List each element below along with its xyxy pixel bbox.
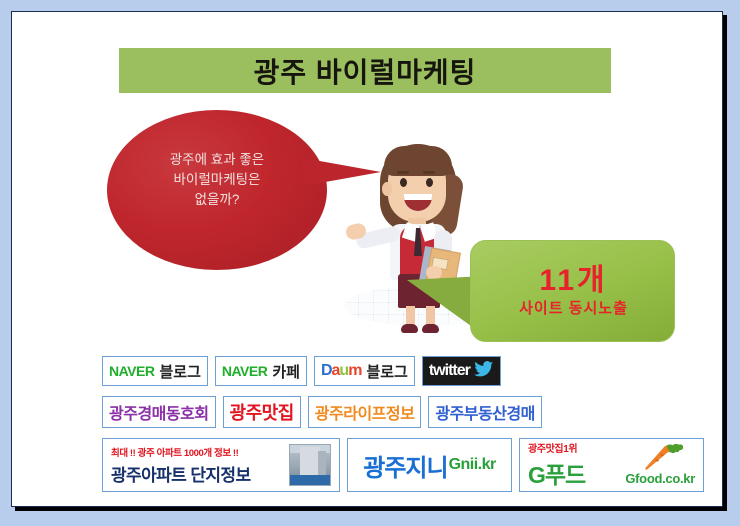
genie-label: 광주지니 — [363, 448, 447, 483]
gfood-url: Gfood.co.kr — [625, 471, 695, 486]
site-label: 광주라이프정보 — [315, 400, 415, 424]
gfood-text-block: 광주맛집1위 G푸드 — [528, 440, 585, 490]
site-label: 광주부동산경매 — [435, 400, 535, 424]
logo-card-gfood[interactable]: 광주맛집1위 G푸드 Gfood.co.kr — [519, 438, 704, 492]
logo-row-1: NAVER 블로그 NAVER 카페 Daum 블로그 twitter — [102, 356, 501, 386]
naver-cafe-label: 카페 — [272, 361, 300, 382]
logo-card-gwangju-genie[interactable]: 광주지니 Gnii.kr — [347, 438, 512, 492]
gfood-label: G푸드 — [528, 456, 585, 490]
title-banner: 광주 바이럴마케팅 — [119, 48, 611, 93]
logo-row-2: 광주경매동호회 광주맛집 광주라이프정보 광주부동산경매 — [102, 396, 542, 428]
photo-base — [290, 475, 331, 485]
logo-card-gwangju-auction-club[interactable]: 광주경매동호회 — [102, 396, 216, 428]
site-label: 광주경매동호회 — [109, 400, 209, 424]
logo-card-naver-cafe[interactable]: NAVER 카페 — [215, 356, 307, 386]
eye-left — [400, 178, 407, 187]
daum-blog-label: 블로그 — [366, 361, 407, 382]
carrot-icon — [637, 444, 683, 470]
site-count-subtitle: 사이트 동시노출 — [471, 297, 676, 318]
naver-wordmark: NAVER — [109, 363, 154, 379]
logo-card-gwangju-apartment[interactable]: 최대 !! 광주 아파트 1000개 정보 !! 광주아파트 단지정보 — [102, 438, 340, 492]
naver-blog-label: 블로그 — [159, 361, 200, 382]
question-text: 광주에 효과 좋은 바이럴마케팅은 없을까? — [115, 150, 319, 210]
twitter-wordmark: twitter — [429, 362, 470, 380]
photo-building-side — [318, 451, 326, 477]
logo-card-twitter[interactable]: twitter — [422, 356, 501, 386]
gfood-mark-block: Gfood.co.kr — [625, 444, 695, 486]
eye-right — [426, 178, 433, 187]
apartment-tagline: 최대 !! 광주 아파트 1000개 정보 !! — [111, 445, 238, 459]
logo-card-gwangju-realestate-auction[interactable]: 광주부동산경매 — [428, 396, 542, 428]
highlight-bubble-body: 11개 사이트 동시노출 — [470, 240, 675, 342]
genie-url: Gnii.kr — [449, 456, 496, 474]
apartment-text-block: 최대 !! 광주 아파트 1000개 정보 !! 광주아파트 단지정보 — [111, 445, 250, 486]
logo-card-daum-blog[interactable]: Daum 블로그 — [314, 356, 415, 386]
logo-card-gwangju-restaurants[interactable]: 광주맛집 — [223, 396, 301, 428]
daum-letter-u: u — [339, 362, 348, 379]
apartment-label: 광주아파트 단지정보 — [111, 461, 250, 486]
eyebrow-left — [397, 171, 409, 174]
ear — [382, 182, 392, 196]
site-label: 광주맛집 — [230, 399, 294, 425]
daum-letter-m: m — [348, 362, 361, 379]
apartment-building-photo — [289, 444, 331, 486]
logo-row-3: 최대 !! 광주 아파트 1000개 정보 !! 광주아파트 단지정보 광주지니… — [102, 438, 704, 492]
slide-canvas: 광주 바이럴마케팅 광주에 효과 좋은 바이럴마케팅은 없을까? — [11, 11, 723, 507]
teeth — [404, 194, 432, 200]
daum-wordmark: Daum — [321, 362, 361, 380]
daum-letter-d: D — [321, 362, 332, 379]
highlight-speech-bubble: 11개 사이트 동시노출 — [407, 240, 677, 360]
gfood-tagline: 광주맛집1위 — [528, 440, 577, 455]
logo-card-naver-blog[interactable]: NAVER 블로그 — [102, 356, 208, 386]
hair-front — [384, 146, 452, 176]
twitter-bird-icon — [474, 361, 494, 382]
page-title: 광주 바이럴마케팅 — [254, 51, 477, 91]
eyebrow-right — [423, 171, 435, 174]
logo-card-gwangju-life-info[interactable]: 광주라이프정보 — [308, 396, 422, 428]
site-count: 11개 — [471, 255, 676, 299]
photo-building — [300, 447, 320, 477]
naver-wordmark: NAVER — [222, 363, 267, 379]
